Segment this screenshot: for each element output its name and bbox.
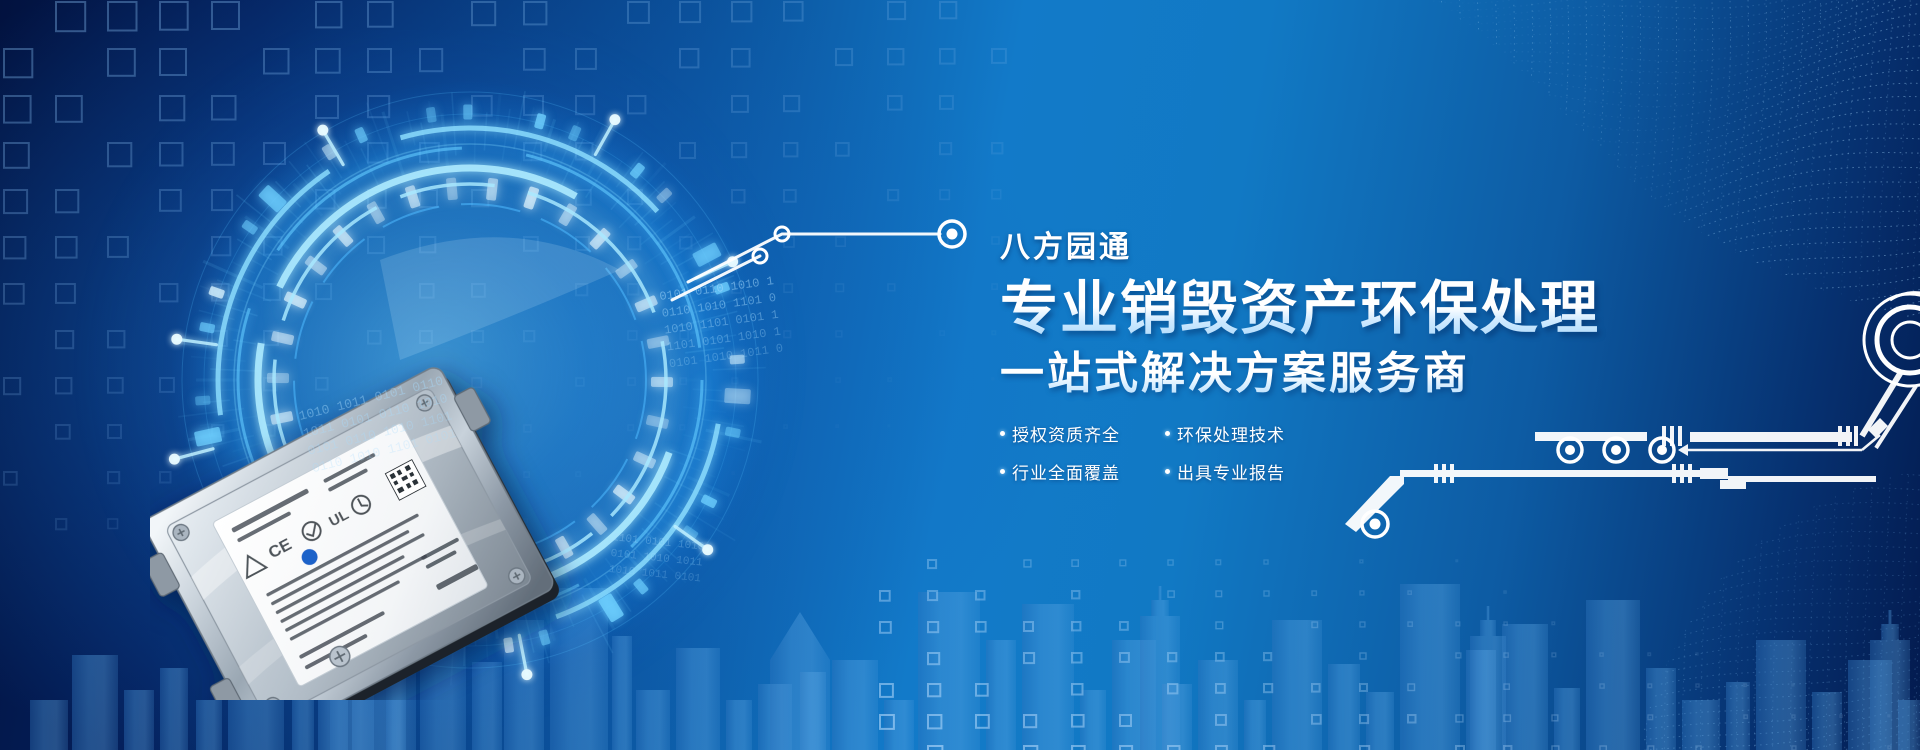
subheadline: 一站式解决方案服务商 (1000, 349, 1700, 400)
headline: 专业销毁资产环保处理 (1000, 278, 1700, 341)
hdd-composition: CE UL (150, 60, 790, 700)
feature-item: 行业全面覆盖 (1000, 459, 1165, 484)
feature-item: 出具专业报告 (1165, 459, 1330, 484)
feature-label: 行业全面覆盖 (1012, 459, 1120, 484)
copy-block: 八方园通 专业销毁资产环保处理 一站式解决方案服务商 授权资质齐全 环保处理技术… (1000, 222, 1700, 484)
bullet-dot-icon (1000, 469, 1005, 474)
feature-item: 授权资质齐全 (1000, 421, 1165, 446)
feature-label: 出具专业报告 (1177, 459, 1285, 484)
hdd-specular (150, 60, 790, 700)
bullet-dot-icon (1000, 431, 1005, 436)
feature-label: 授权资质齐全 (1012, 421, 1120, 446)
brand-name: 八方园通 (1000, 222, 1700, 266)
feature-item: 环保处理技术 (1165, 421, 1330, 446)
bullet-dot-icon (1165, 431, 1170, 436)
hero-banner: CE UL (0, 0, 1920, 750)
feature-list: 授权资质齐全 环保处理技术 行业全面覆盖 出具专业报告 (1000, 421, 1330, 484)
feature-label: 环保处理技术 (1177, 421, 1285, 446)
bullet-dot-icon (1165, 469, 1170, 474)
